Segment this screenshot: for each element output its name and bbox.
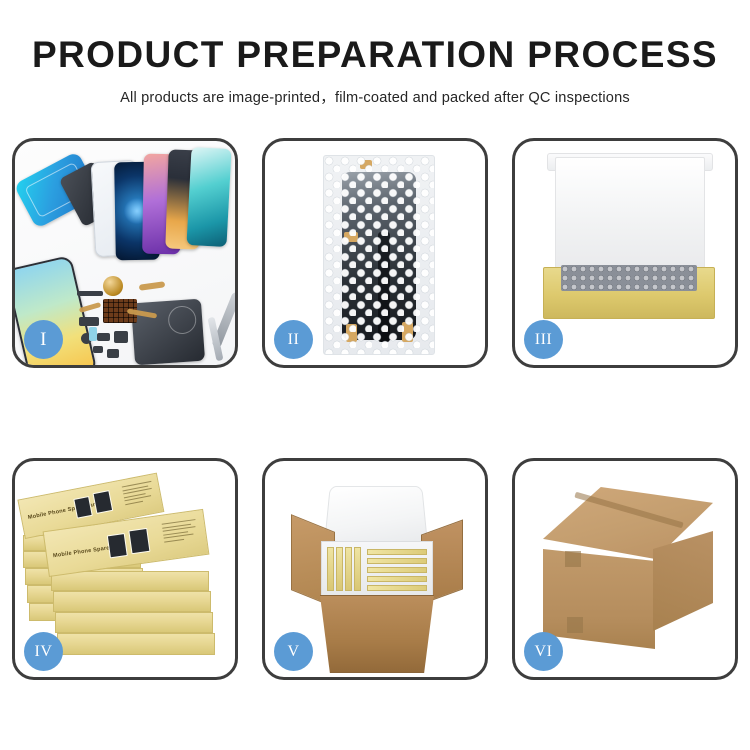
stacked-box-fr-2 [53, 591, 211, 612]
carton-tape-upper [565, 551, 581, 567]
step-badge-5: V [274, 632, 313, 671]
small-part-g [107, 349, 119, 358]
small-part-f [93, 346, 103, 353]
page-subtitle: All products are image-printed，film-coat… [0, 86, 750, 107]
box-text-lines-front [162, 519, 201, 545]
small-part-e [114, 331, 128, 343]
bubble-wrap-bag [323, 155, 435, 355]
small-part-d [97, 333, 110, 341]
bubble-texture [324, 156, 434, 354]
process-row-2: Mobile Phone Spare Parts [12, 458, 738, 680]
foam-lid-sheet [555, 157, 705, 272]
product-preparation-process-infographic: PRODUCT PREPARATION PROCESS All products… [0, 0, 750, 750]
page-title: PRODUCT PREPARATION PROCESS [0, 36, 750, 75]
carton-body [315, 595, 439, 673]
box-window-back-2 [93, 490, 114, 514]
step-badge-2: II [274, 320, 313, 359]
step-panel-1[interactable]: I [12, 138, 238, 368]
step-panel-4[interactable]: Mobile Phone Spare Parts [12, 458, 238, 680]
small-part-b [79, 317, 99, 326]
phone-teal-gradient [186, 147, 231, 247]
stacked-box-fr-3 [55, 612, 213, 633]
small-part-a [77, 291, 103, 296]
step-panel-6[interactable]: VI [512, 458, 738, 680]
process-row-1: I II [12, 138, 738, 368]
box-window-front-2 [128, 528, 150, 554]
step-panel-3[interactable]: III [512, 138, 738, 368]
step-badge-4: IV [24, 632, 63, 671]
step-badge-1: I [24, 320, 63, 359]
step-panel-2[interactable]: II [262, 138, 488, 368]
step-badge-6: VI [524, 632, 563, 671]
step-badge-3: III [524, 320, 563, 359]
phone-back-housing [131, 299, 205, 365]
process-steps-grid: I II [12, 138, 738, 680]
foam-box-lid [324, 486, 428, 545]
carton-front-face [543, 549, 655, 649]
box-window-front-1 [107, 533, 128, 558]
flex-cable-a [139, 281, 166, 291]
small-screen-part [89, 327, 97, 341]
stacked-box-fr-1 [51, 571, 209, 591]
box-window-back-1 [73, 496, 93, 519]
speaker-coil-part [103, 276, 123, 296]
box-text-lines-back [122, 480, 158, 507]
step-panel-5[interactable]: V [262, 458, 488, 680]
stacked-box-fr-4 [57, 633, 215, 655]
carton-tape-lower [567, 617, 583, 633]
bubble-wrapped-contents [561, 265, 697, 291]
packed-retail-boxes [327, 547, 427, 591]
header: PRODUCT PREPARATION PROCESS All products… [0, 36, 750, 107]
